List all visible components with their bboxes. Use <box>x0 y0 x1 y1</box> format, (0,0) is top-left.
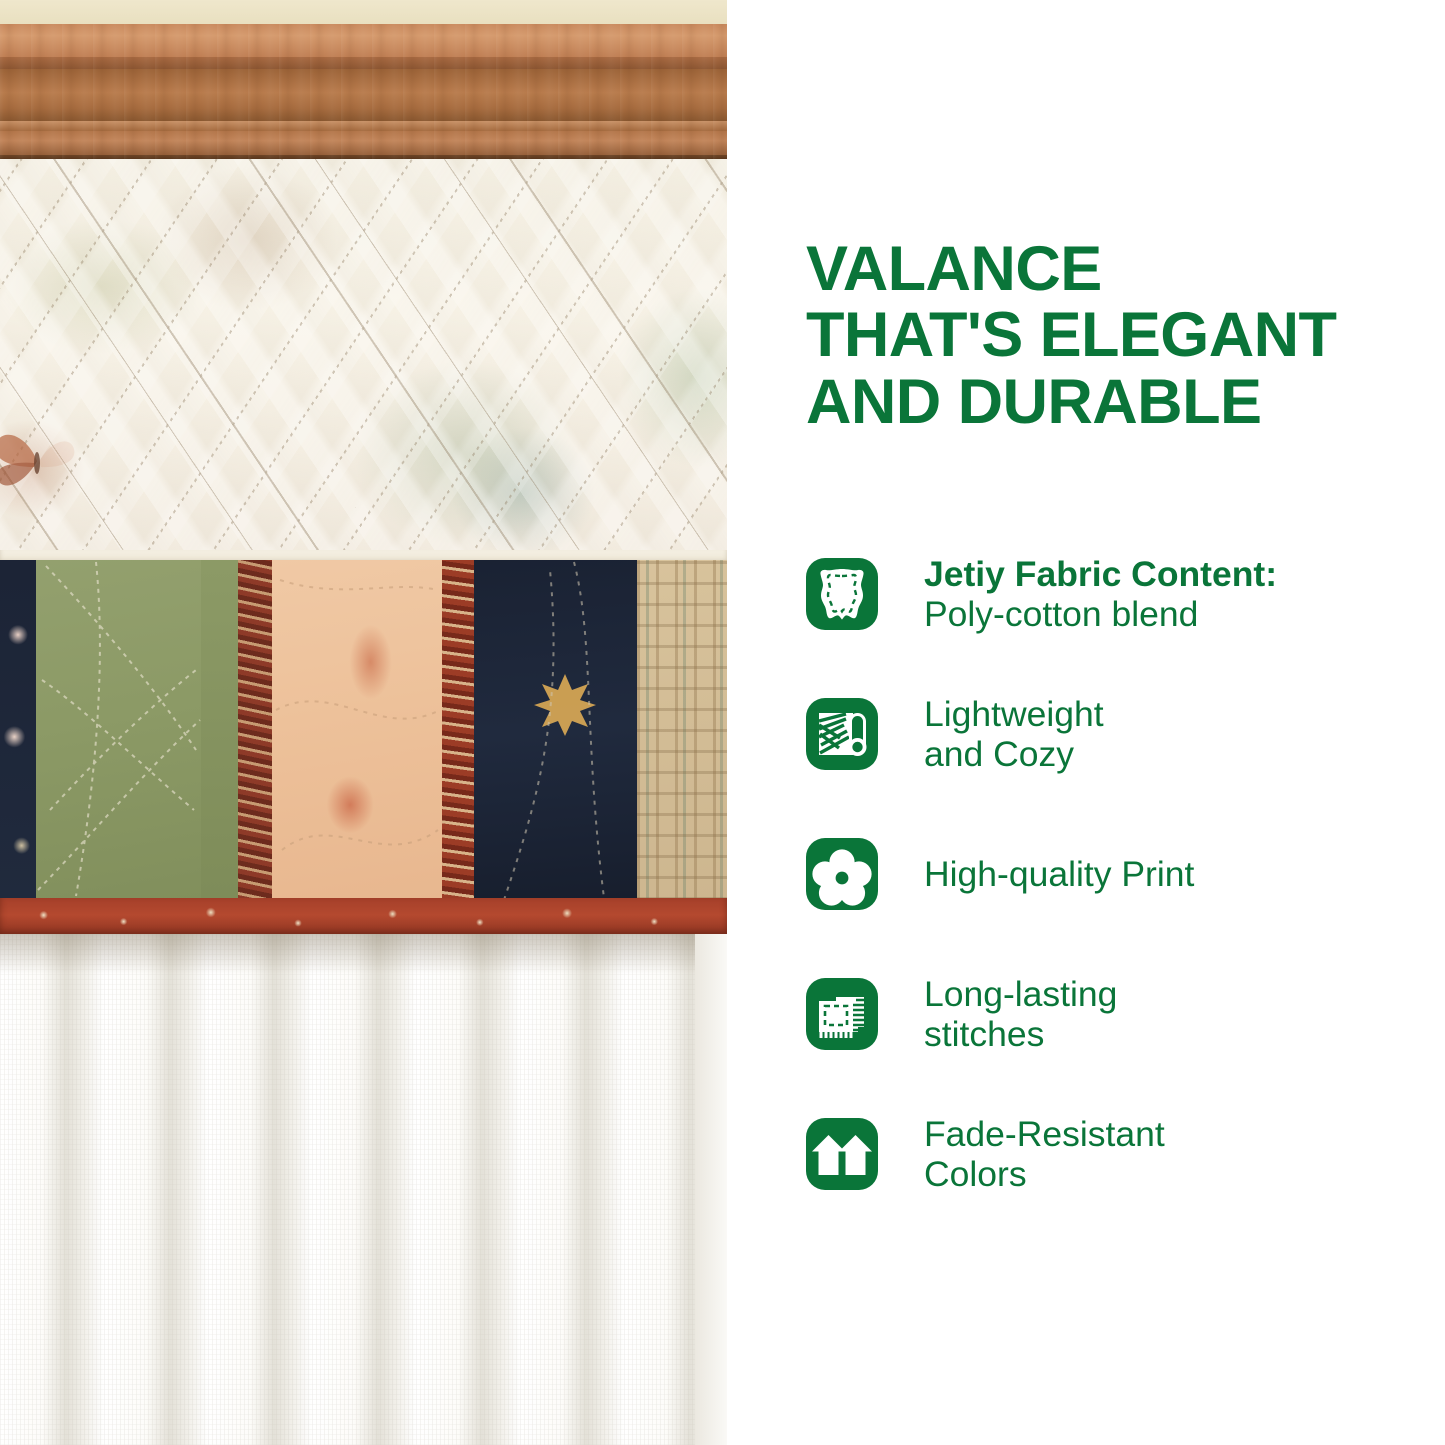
patch-rust-print-narrow-2 <box>442 560 474 900</box>
product-infographic: VALANCE THAT'S ELEGANT AND DURABLE Jetiy… <box>0 0 1445 1445</box>
feature-item-fabric-content: Jetiy Fabric Content: Poly-cotton blend <box>806 524 1426 664</box>
info-panel: VALANCE THAT'S ELEGANT AND DURABLE Jetiy… <box>727 0 1445 1445</box>
feature-item-lightweight: Lightweight and Cozy <box>806 664 1426 804</box>
feature-line-2: Colors <box>924 1154 1027 1194</box>
feature-line-1: Lightweight <box>924 694 1104 734</box>
product-photo <box>0 0 727 1445</box>
curtain-top-shadow <box>0 934 727 974</box>
feature-line-2: stitches <box>924 1014 1044 1054</box>
patch-sage-green <box>36 560 201 900</box>
diamond-quilt-stitching <box>0 159 727 557</box>
white-linen-curtain <box>0 934 727 1445</box>
feature-text: High-quality Print <box>924 854 1194 894</box>
headline-line-3: AND DURABLE <box>806 369 1426 435</box>
linen-weave-texture <box>0 934 727 1445</box>
feature-value: Poly-cotton blend <box>924 594 1198 634</box>
feature-item-stitches: Long-lasting stitches <box>806 944 1426 1084</box>
wood-grain-texture <box>0 24 727 159</box>
headline-line-1: VALANCE <box>806 236 1426 302</box>
feature-line-1: Long-lasting <box>924 974 1117 1014</box>
patch-green-narrow <box>201 560 238 900</box>
patch-beige-plaid <box>637 560 727 900</box>
feature-line-1: Fade-Resistant <box>924 1114 1165 1154</box>
double-up-arrow-icon <box>806 1118 878 1190</box>
feature-line-1: High-quality Print <box>924 854 1194 894</box>
patch-navy-floral-left <box>0 560 36 900</box>
headline: VALANCE THAT'S ELEGANT AND DURABLE <box>806 236 1426 435</box>
feature-text: Jetiy Fabric Content: Poly-cotton blend <box>924 554 1277 634</box>
feature-label: Jetiy Fabric Content: <box>924 554 1277 594</box>
leather-hide-icon <box>806 558 878 630</box>
feature-line-2: and Cozy <box>924 734 1074 774</box>
quilt-stitch-lines <box>474 560 637 900</box>
patchwork-strip <box>0 560 727 900</box>
wood-cornice-board <box>0 24 727 159</box>
quilt-stitch-lines <box>272 560 442 900</box>
feature-item-print-quality: High-quality Print <box>806 804 1426 944</box>
feature-text: Fade-Resistant Colors <box>924 1114 1165 1194</box>
feature-text: Lightweight and Cozy <box>924 694 1104 774</box>
feature-list: Jetiy Fabric Content: Poly-cotton blend <box>806 524 1426 1224</box>
feature-item-fade-resistant: Fade-Resistant Colors <box>806 1084 1426 1224</box>
butterfly-motif <box>0 421 82 497</box>
quilted-cream-panel <box>0 159 727 557</box>
fabric-roll-icon <box>806 698 878 770</box>
wall-background <box>0 0 727 24</box>
flower-icon <box>806 838 878 910</box>
feature-text: Long-lasting stitches <box>924 974 1117 1054</box>
curtain-right-edge <box>695 934 727 1445</box>
patch-navy-with-gold-leaf <box>474 560 637 900</box>
quilt-stitch-lines <box>36 560 201 900</box>
patch-rust-print-narrow <box>238 560 272 900</box>
stacked-fabric-stitches-icon <box>806 978 878 1050</box>
headline-line-2: THAT'S ELEGANT <box>806 302 1426 368</box>
patch-peach-floral <box>272 560 442 900</box>
rust-floral-binding <box>0 898 727 936</box>
